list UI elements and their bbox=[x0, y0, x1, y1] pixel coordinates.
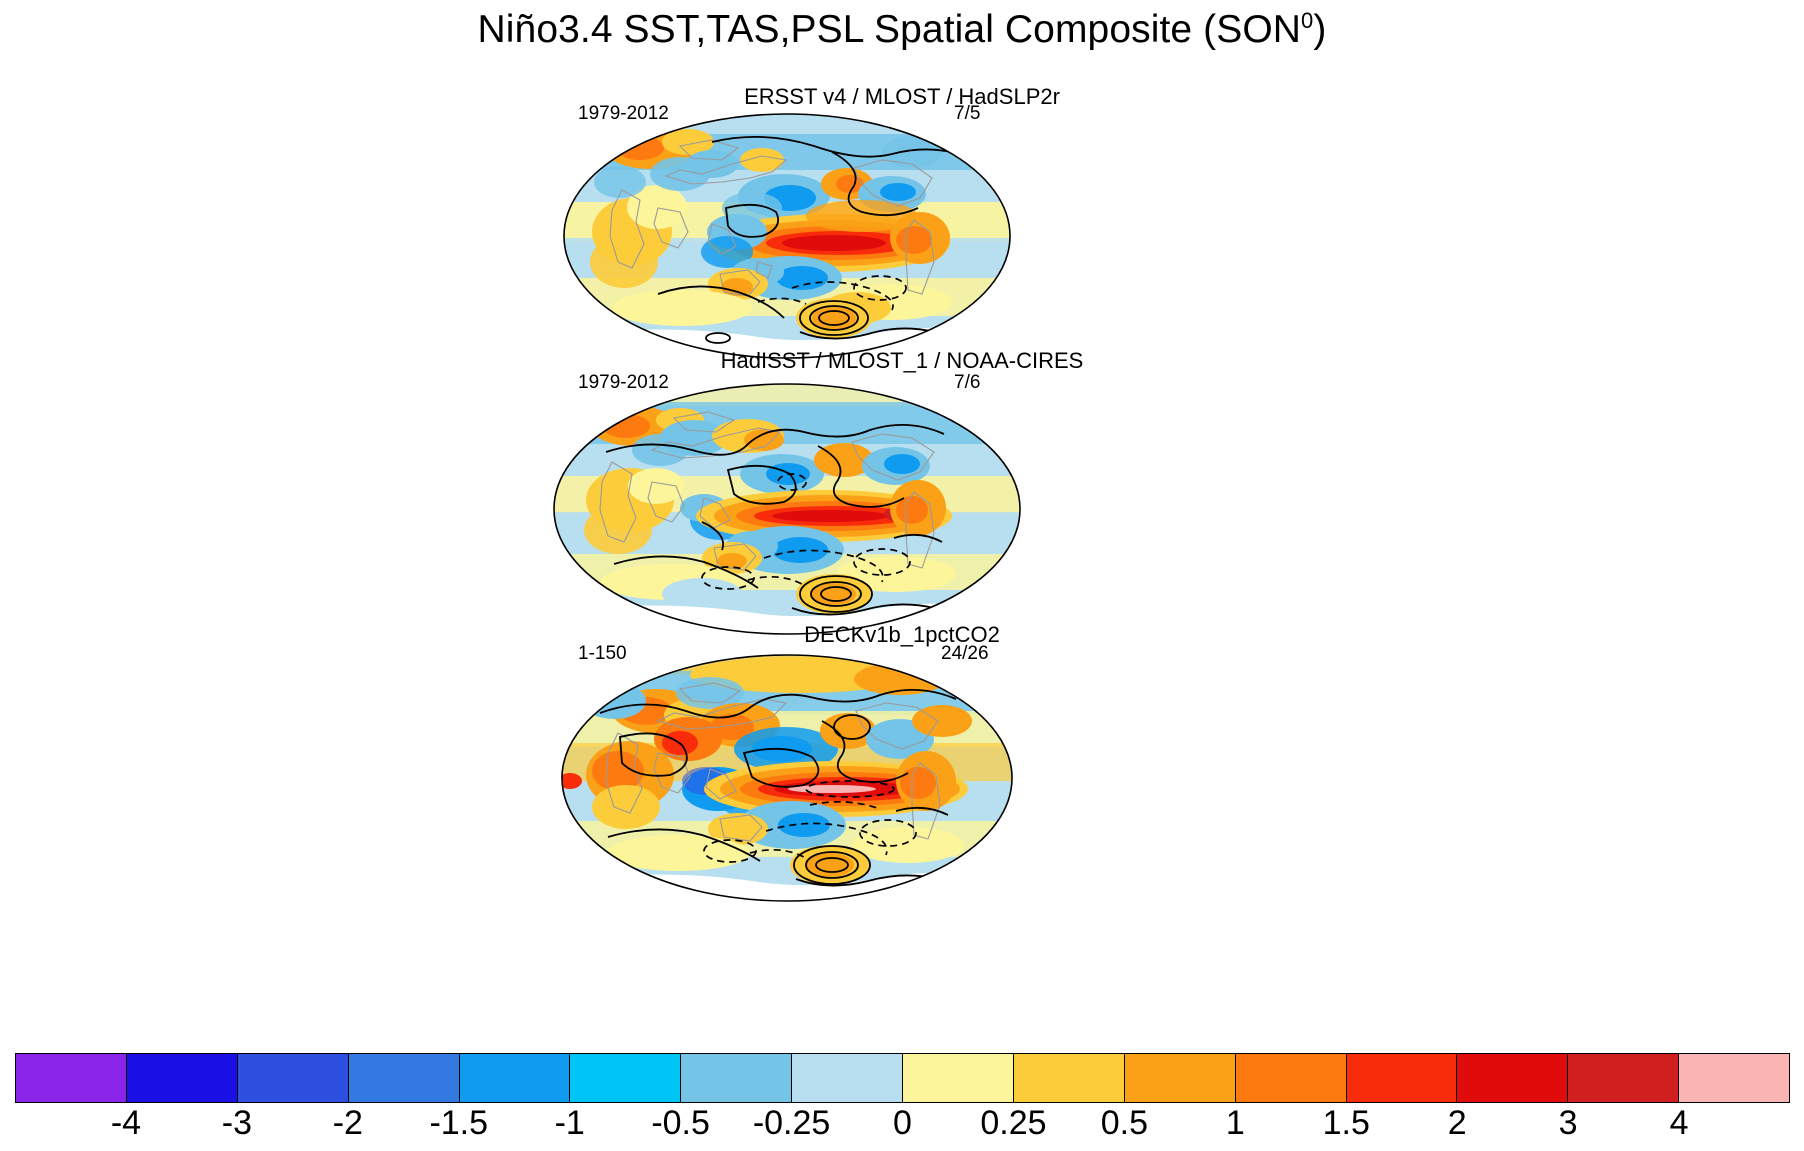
panel-deck: DECKv1b_1pctCO2 1-150 24/26 bbox=[0, 0, 1804, 360]
colorbar-swatch-0 bbox=[16, 1054, 127, 1102]
colorbar-swatch-5 bbox=[570, 1054, 681, 1102]
colorbar-swatch-2 bbox=[238, 1054, 349, 1102]
colorbar-tick-11: 1.5 bbox=[1323, 1104, 1370, 1143]
colorbar-tick-14: 4 bbox=[1670, 1104, 1689, 1143]
colorbar-tick-6: -0.25 bbox=[753, 1104, 831, 1143]
colorbar-swatch-3 bbox=[349, 1054, 460, 1102]
colorbar-tick-4: -1 bbox=[555, 1104, 585, 1143]
colorbar-swatch-10 bbox=[1125, 1054, 1236, 1102]
colorbar-swatch-7 bbox=[792, 1054, 903, 1102]
colorbar-tick-2: -2 bbox=[333, 1104, 363, 1143]
figure-root: Niño3.4 SST,TAS,PSL Spatial Composite (S… bbox=[0, 0, 1804, 1151]
colorbar-tick-labels: -4-3-2-1.5-1-0.5-0.2500.250.511.5234 bbox=[15, 1104, 1790, 1148]
colorbar-tick-1: -3 bbox=[222, 1104, 252, 1143]
map-svg-deck bbox=[560, 653, 1015, 903]
colorbar-tick-9: 0.5 bbox=[1101, 1104, 1148, 1143]
colorbar-tick-8: 0.25 bbox=[980, 1104, 1046, 1143]
colorbar-tick-5: -0.5 bbox=[651, 1104, 710, 1143]
colorbar-tick-13: 3 bbox=[1559, 1104, 1578, 1143]
colorbar-tick-3: -1.5 bbox=[429, 1104, 488, 1143]
colorbar-swatch-9 bbox=[1014, 1054, 1125, 1102]
colorbar-tick-7: 0 bbox=[893, 1104, 912, 1143]
colorbar-swatch-15 bbox=[1679, 1054, 1789, 1102]
colorbar-tick-10: 1 bbox=[1226, 1104, 1245, 1143]
colorbar-tick-0: -4 bbox=[111, 1104, 141, 1143]
map-svg-hadisst bbox=[552, 382, 1022, 636]
colorbar-swatch-13 bbox=[1457, 1054, 1568, 1102]
colorbar-tick-12: 2 bbox=[1448, 1104, 1467, 1143]
colorbar-swatch-1 bbox=[127, 1054, 238, 1102]
colorbar bbox=[15, 1053, 1790, 1103]
colorbar-swatch-14 bbox=[1568, 1054, 1679, 1102]
colorbar-swatch-4 bbox=[460, 1054, 571, 1102]
colorbar-swatch-6 bbox=[681, 1054, 792, 1102]
colorbar-swatch-12 bbox=[1347, 1054, 1458, 1102]
panel-title-deck: DECKv1b_1pctCO2 bbox=[0, 622, 1804, 648]
map-hadisst bbox=[552, 382, 1022, 636]
map-deck bbox=[560, 653, 1015, 903]
colorbar-swatch-11 bbox=[1236, 1054, 1347, 1102]
colorbar-swatch-8 bbox=[903, 1054, 1014, 1102]
